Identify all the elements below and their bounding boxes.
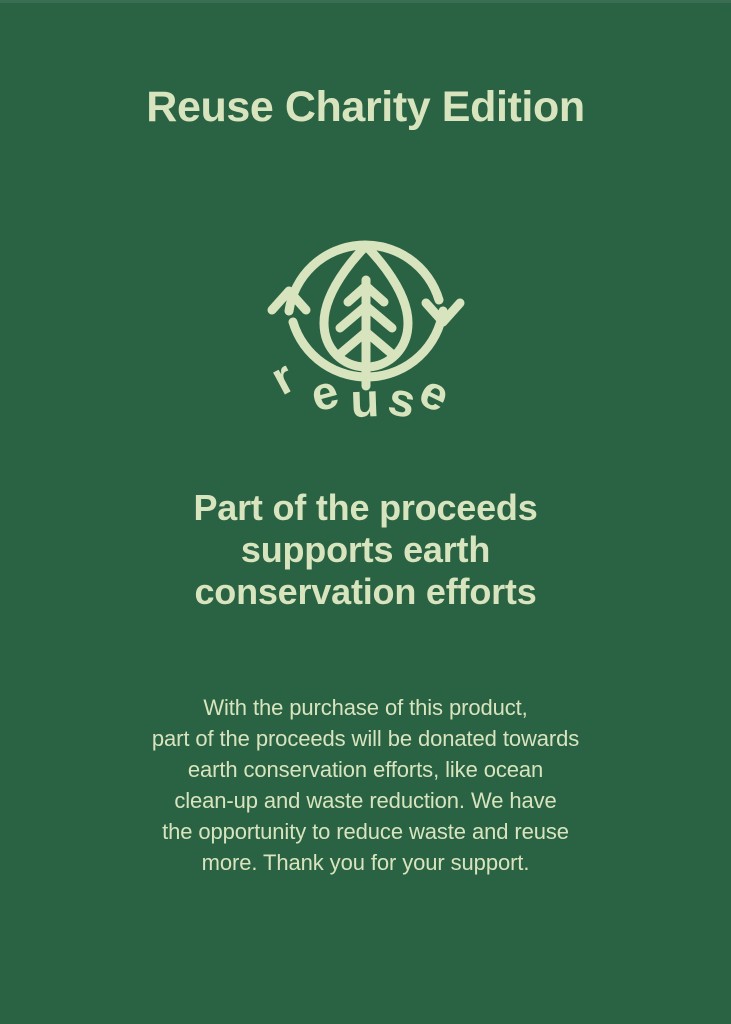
- body-line-3: earth conservation efforts, like ocean: [0, 754, 731, 785]
- body-line-6: more. Thank you for your support.: [0, 847, 731, 878]
- body-line-4: clean-up and waste reduction. We have: [0, 785, 731, 816]
- page-title: Reuse Charity Edition: [0, 78, 731, 136]
- body-line-5: the opportunity to reduce waste and reus…: [0, 816, 731, 847]
- wordmark-letter-e2: e: [411, 363, 458, 418]
- wordmark-letter-u: u: [349, 373, 380, 418]
- body-line-2: part of the proceeds will be donated tow…: [0, 723, 731, 754]
- body-line-1: With the purchase of this product,: [0, 692, 731, 723]
- wordmark-letter-r: r: [261, 349, 302, 404]
- reuse-wordmark: r e u s e: [261, 349, 458, 418]
- headline-line-2: supports earth: [0, 529, 731, 571]
- headline: Part of the proceeds supports earth cons…: [0, 487, 731, 613]
- reuse-logo: r e u s e: [0, 218, 731, 418]
- headline-line-3: conservation efforts: [0, 571, 731, 613]
- body-copy: With the purchase of this product, part …: [0, 692, 731, 878]
- reuse-leaf-cycle-icon: r e u s e: [256, 218, 476, 418]
- headline-line-1: Part of the proceeds: [0, 487, 731, 529]
- reuse-charity-poster: Reuse Charity Edition r e u: [0, 0, 731, 1024]
- top-edge-accent: [0, 0, 731, 3]
